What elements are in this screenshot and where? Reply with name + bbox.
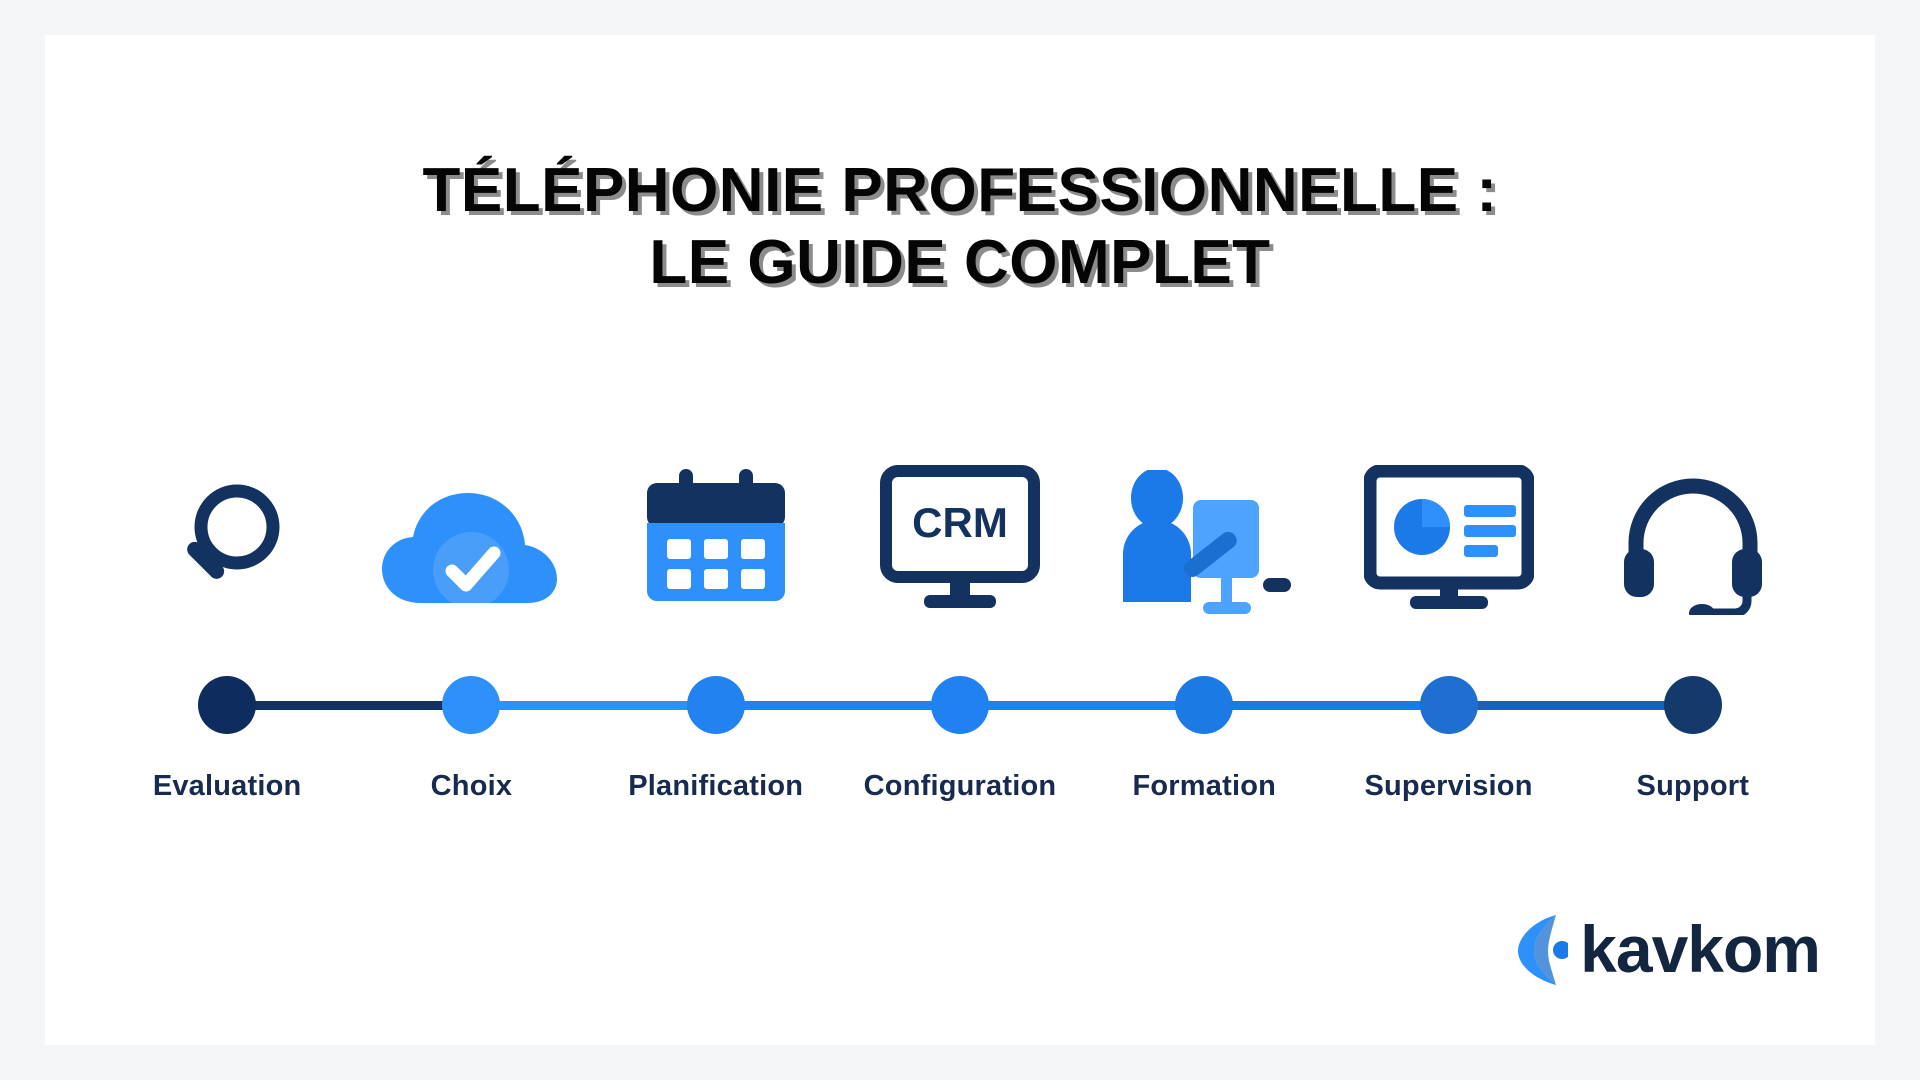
step-label-evaluation: Evaluation (105, 770, 349, 820)
icon-cell-choix (349, 450, 593, 615)
timeline-dot-choix (442, 676, 500, 734)
step-label-choix: Choix (349, 770, 593, 820)
timeline-dot-cell-4[interactable] (838, 676, 1082, 734)
cloud-check-icon (376, 475, 566, 615)
icon-cell-configuration: CRM (838, 450, 1082, 615)
crm-monitor-icon: CRM (880, 465, 1040, 615)
presenter-icon (1117, 470, 1292, 615)
calendar-icon (641, 465, 791, 615)
infographic-card: TÉLÉPHONIE PROFESSIONNELLE : LE GUIDE CO… (45, 35, 1875, 1045)
timeline-dot-cell-1[interactable] (105, 676, 349, 734)
timeline-dot-evaluation (198, 676, 256, 734)
timeline-dot-support (1664, 676, 1722, 734)
timeline-dot-cell-2[interactable] (349, 676, 593, 734)
crm-screen-label: CRM (912, 499, 1008, 546)
timeline-dots (105, 665, 1815, 745)
icon-row: CRM (105, 450, 1815, 615)
icon-cell-evaluation (105, 450, 349, 615)
page-title: TÉLÉPHONIE PROFESSIONNELLE : LE GUIDE CO… (45, 155, 1875, 299)
timeline-dot-supervision (1420, 676, 1478, 734)
magnifier-icon (161, 475, 293, 615)
kavkom-wordmark: kavkom (1580, 916, 1820, 982)
timeline-dot-planification (687, 676, 745, 734)
icon-cell-formation (1082, 450, 1326, 615)
icon-cell-supervision (1326, 450, 1570, 615)
step-label-supervision: Supervision (1326, 770, 1570, 820)
step-label-formation: Formation (1082, 770, 1326, 820)
kavkom-mark-icon (1512, 911, 1568, 987)
step-label-planification: Planification (594, 770, 838, 820)
icon-cell-planification (594, 450, 838, 615)
icon-cell-support (1571, 450, 1815, 615)
timeline-dot-cell-3[interactable] (594, 676, 838, 734)
step-label-support: Support (1571, 770, 1815, 820)
timeline-dot-cell-6[interactable] (1326, 676, 1570, 734)
timeline-dot-formation (1175, 676, 1233, 734)
title-line-2: LE GUIDE COMPLET (45, 227, 1875, 299)
timeline (105, 665, 1815, 745)
timeline-dot-configuration (931, 676, 989, 734)
step-label-configuration: Configuration (838, 770, 1082, 820)
timeline-dot-cell-5[interactable] (1082, 676, 1326, 734)
timeline-dot-cell-7[interactable] (1571, 676, 1815, 734)
dashboard-monitor-icon (1364, 465, 1534, 615)
kavkom-logo: kavkom (1512, 911, 1820, 987)
title-line-1: TÉLÉPHONIE PROFESSIONNELLE : (45, 155, 1875, 227)
headset-icon (1618, 475, 1768, 615)
step-label-row: Evaluation Choix Planification Configura… (105, 770, 1815, 820)
